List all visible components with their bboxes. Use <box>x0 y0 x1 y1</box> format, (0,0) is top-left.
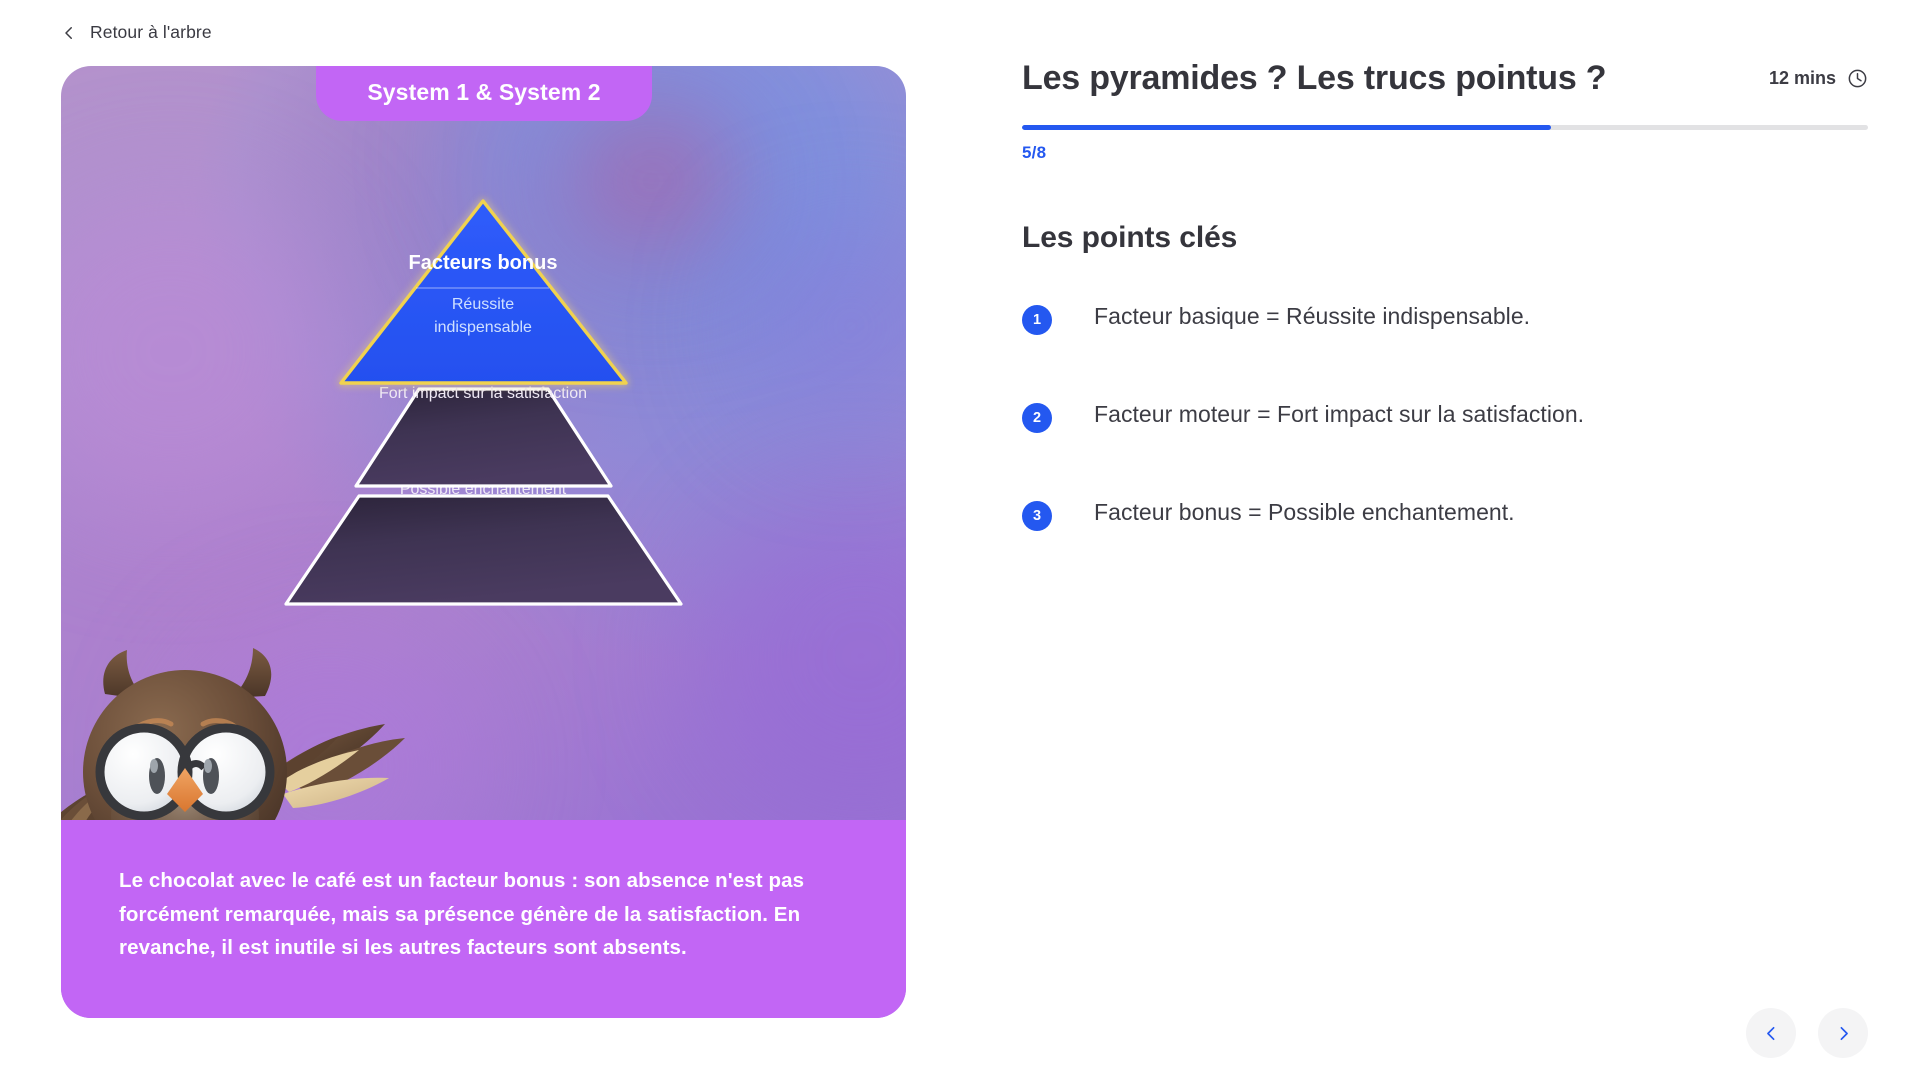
owl-right-wing <box>275 724 405 808</box>
keypoint-number-badge: 1 <box>1022 305 1052 335</box>
tier-subtitle-bonus-line2: indispensable <box>434 319 532 336</box>
next-step-button[interactable] <box>1818 1008 1868 1058</box>
chevron-right-icon <box>1835 1025 1852 1042</box>
tier-subtitle-moteurs: Fort impact sur la satisfaction <box>379 385 587 402</box>
keypoint-text: Facteur basique = Réussite indispensable… <box>1094 301 1530 332</box>
pagination-controls <box>1746 1008 1868 1058</box>
list-item: 1 Facteur basique = Réussite indispensab… <box>1022 301 1868 335</box>
pyramid-diagram: Facteurs basiques Possible enchantement … <box>61 171 906 701</box>
keypoint-text: Facteur moteur = Fort impact sur la sati… <box>1094 399 1584 430</box>
system-badge: System 1 & System 2 <box>316 66 652 121</box>
duration-indicator: 12 mins <box>1769 58 1868 89</box>
back-to-tree-link[interactable]: Retour à l'arbre <box>60 24 212 42</box>
lesson-progress-label: 5/8 <box>1022 143 1868 163</box>
keypoints-heading: Les points clés <box>1022 221 1868 255</box>
back-to-tree-label: Retour à l'arbre <box>90 24 212 42</box>
system-badge-label: System 1 & System 2 <box>350 80 618 105</box>
chevron-left-icon <box>1763 1025 1780 1042</box>
keypoint-text: Facteur bonus = Possible enchantement. <box>1094 497 1515 528</box>
tier-title-bonus: Facteurs bonus <box>409 252 558 274</box>
keypoint-number-badge: 2 <box>1022 403 1052 433</box>
owl-beak <box>167 768 203 812</box>
keypoint-number-badge: 3 <box>1022 501 1052 531</box>
lesson-page: Retour à l'arbre System 1 & System 2 <box>0 0 1920 1080</box>
list-item: 2 Facteur moteur = Fort impact sur la sa… <box>1022 399 1868 433</box>
duration-label: 12 mins <box>1769 68 1836 89</box>
previous-step-button[interactable] <box>1746 1008 1796 1058</box>
detail-header: Les pyramides ? Les trucs pointus ? 12 m… <box>1022 58 1868 99</box>
chevron-left-icon <box>60 24 78 42</box>
speech-bubble-text: Le chocolat avec le café est un facteur … <box>119 864 844 964</box>
speech-bubble: Le chocolat avec le café est un facteur … <box>61 820 906 1018</box>
lesson-progress-bar <box>1022 125 1868 130</box>
pyramid-tier-bonus <box>341 201 626 383</box>
owl-glasses-icon <box>100 728 270 816</box>
list-item: 3 Facteur bonus = Possible enchantement. <box>1022 497 1868 531</box>
lesson-progress-fill <box>1022 125 1551 130</box>
lesson-detail-panel: Les pyramides ? Les trucs pointus ? 12 m… <box>1022 58 1868 1058</box>
keypoints-list: 1 Facteur basique = Réussite indispensab… <box>1022 301 1868 531</box>
page-title: Les pyramides ? Les trucs pointus ? <box>1022 58 1606 99</box>
lesson-illustration-card: System 1 & System 2 <box>61 66 906 1018</box>
clock-icon <box>1847 68 1868 89</box>
tier-subtitle-bonus-line1: Réussite <box>452 296 514 313</box>
